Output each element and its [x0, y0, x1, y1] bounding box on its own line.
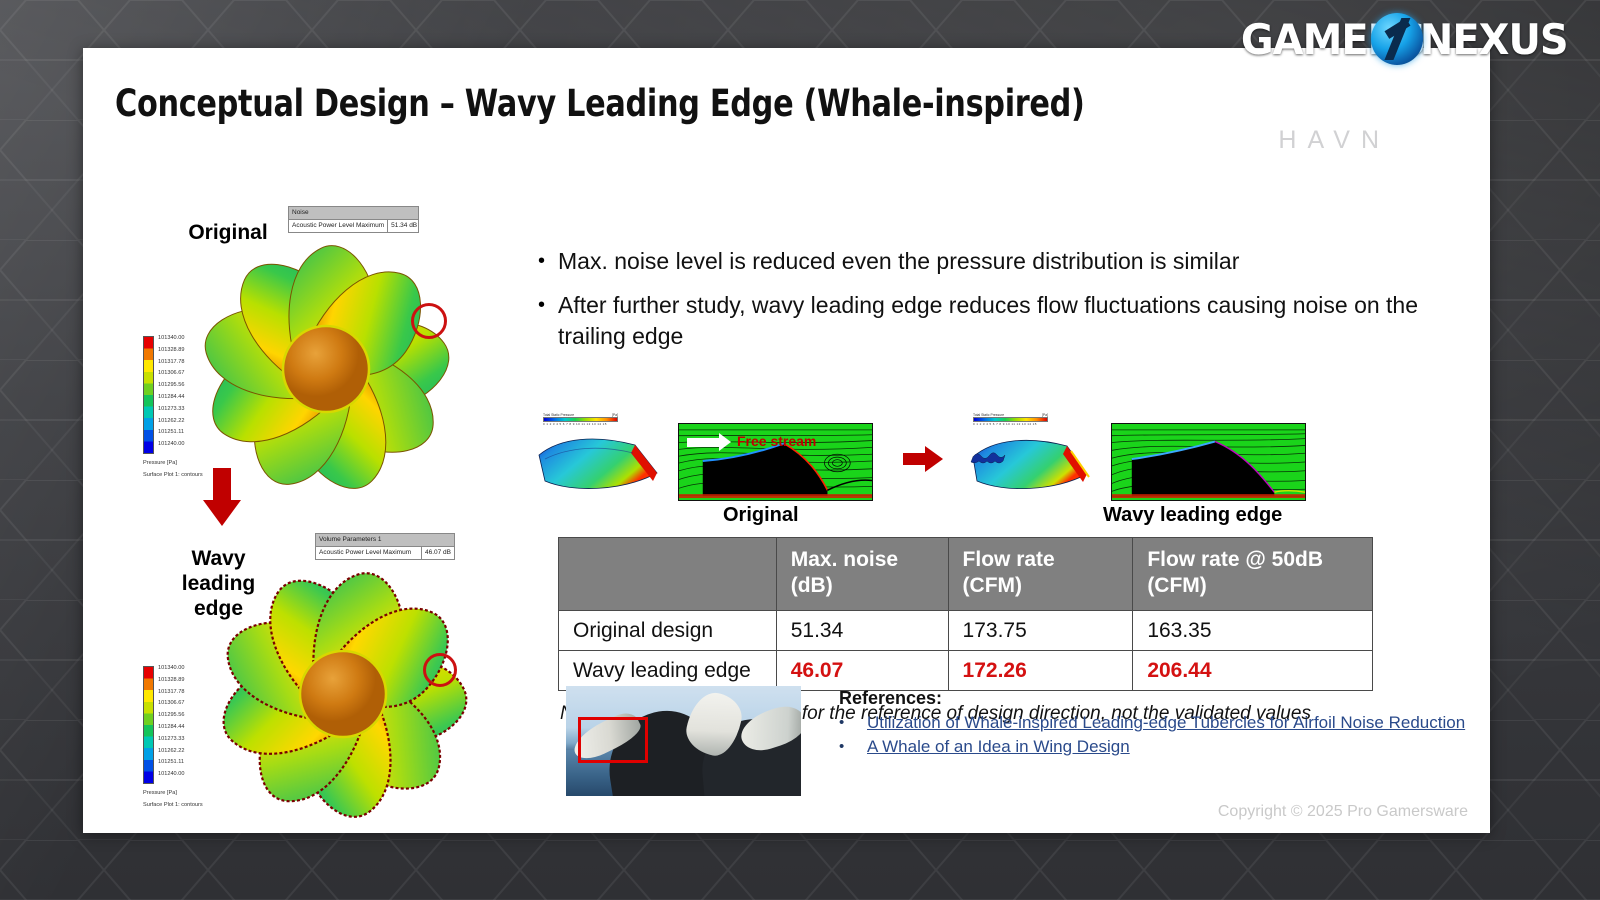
- original-mini-legend: Total Static Pressure [Pa] 0 1 2 3 4 5 6…: [543, 413, 618, 426]
- legend-caption-sub: Surface Plot 1: contours: [143, 472, 203, 478]
- header-line: Max. noise: [791, 547, 938, 573]
- references-title: References:: [839, 688, 1439, 709]
- reference-link-tubercles[interactable]: Utilization of Whale-inspired Leading-ed…: [867, 712, 1465, 734]
- legend-tick: 101273.33: [158, 404, 184, 416]
- cell-max-noise: 46.07: [776, 651, 948, 691]
- reference-item: • Utilization of Whale-inspired Leading-…: [839, 712, 1439, 734]
- reference-item: • A Whale of an Idea in Wing Design: [839, 736, 1439, 758]
- legend-tick: 101328.89: [158, 675, 184, 687]
- free-stream-arrow-icon: [687, 438, 721, 447]
- legend-tick: 101295.56: [158, 710, 184, 722]
- gamers-nexus-logo: GAMERS NEXUS: [1236, 12, 1572, 66]
- table-header-row: Max. noise (dB) Flow rate (CFM) Flow rat…: [559, 538, 1373, 611]
- header-line: Flow rate @ 50dB: [1147, 547, 1362, 573]
- legend-tick: 101328.89: [158, 345, 184, 357]
- mini-legend-unit: [Pa]: [1042, 413, 1048, 417]
- pressure-legend-ticks: 101340.00 101328.89 101317.78 101306.67 …: [158, 663, 184, 781]
- wavy-fan-render: [183, 558, 503, 828]
- legend-tick: 101240.00: [158, 769, 184, 781]
- header-line: (CFM): [963, 573, 1123, 599]
- original-fan-figure: Original Noise Acoustic Power Level Maxi…: [143, 198, 493, 508]
- wavy-airfoil-3d: Total Static Pressure [Pa] 0 1 2 3 4 5 6…: [963, 413, 1093, 498]
- legend-tick: 101295.56: [158, 380, 184, 392]
- mini-legend-unit: [Pa]: [612, 413, 618, 417]
- bullet-dot-icon: •: [538, 290, 558, 352]
- gamers-nexus-emblem-icon: [1371, 13, 1423, 65]
- wavy-streamline-panel: [1111, 423, 1306, 501]
- cfd-left-caption: Original: [723, 504, 799, 527]
- legend-tick: 101306.67: [158, 698, 184, 710]
- logo-text-nexus: NEXUS: [1420, 15, 1568, 64]
- cfd-transition-arrow-icon: [903, 446, 945, 472]
- mini-legend-title: Total Static Pressure: [973, 413, 1004, 417]
- legend-tick: 101251.11: [158, 427, 184, 439]
- arrow-shaft: [213, 468, 231, 502]
- bullet-list: • Max. noise level is reduced even the p…: [538, 246, 1448, 365]
- reference-link-wing-design[interactable]: A Whale of an Idea in Wing Design: [867, 736, 1130, 758]
- table-row: Wavy leading edge 46.07 172.26 206.44: [559, 651, 1373, 691]
- arrow-shaft: [903, 453, 927, 465]
- legend-tick: 101284.44: [158, 392, 184, 404]
- legend-tick: 101273.33: [158, 734, 184, 746]
- header-line: Flow rate: [963, 547, 1123, 573]
- free-stream-label: Free stream: [737, 433, 816, 449]
- header-line: (CFM): [1147, 573, 1362, 599]
- pressure-colorbar-icon: [143, 336, 154, 454]
- comparison-table: Max. noise (dB) Flow rate (CFM) Flow rat…: [558, 537, 1373, 691]
- wavy-airfoil-surface: [963, 429, 1093, 499]
- legend-tick: 101340.00: [158, 333, 184, 345]
- legend-tick: 101262.22: [158, 416, 184, 428]
- table-row: Original design 51.34 173.75 163.35: [559, 611, 1373, 651]
- legend-tick: 101284.44: [158, 722, 184, 734]
- legend-caption: Pressure [Pa]: [143, 790, 177, 796]
- whale-tubercle-highlight-box: [578, 717, 649, 763]
- legend-tick: 101262.22: [158, 746, 184, 758]
- original-airfoil-surface: [533, 429, 663, 499]
- original-fan-render: [171, 230, 481, 508]
- legend-tick: 101306.67: [158, 368, 184, 380]
- references-block: References: • Utilization of Whale-inspi…: [839, 688, 1439, 760]
- table-header-flow-rate-50db: Flow rate @ 50dB (CFM): [1133, 538, 1373, 611]
- tooltip-title: Volume Parameters 1: [316, 534, 454, 547]
- cell-flow-rate: 172.26: [948, 651, 1133, 691]
- wavy-mini-legend: Total Static Pressure [Pa] 0 1 2 3 4 5 6…: [973, 413, 1048, 426]
- bullet-item: • After further study, wavy leading edge…: [538, 290, 1448, 352]
- table-header-blank: [559, 538, 777, 611]
- cell-flow-rate-50db: 163.35: [1133, 611, 1373, 651]
- wavy-streamlines: [1112, 424, 1305, 500]
- arrow-head: [203, 500, 241, 526]
- mini-legend-ticks: 0 1 2 3 4 5 6 7 8 9 10 11 12 13 14 15: [543, 422, 618, 426]
- table-header-flow-rate: Flow rate (CFM): [948, 538, 1133, 611]
- legend-caption: Pressure [Pa]: [143, 460, 177, 466]
- cell-max-noise: 51.34: [776, 611, 948, 651]
- presentation-slide: HAVN Conceptual Design – Wavy Leading Ed…: [83, 48, 1490, 833]
- pressure-legend-ticks: 101340.00 101328.89 101317.78 101306.67 …: [158, 333, 184, 451]
- legend-tick: 101340.00: [158, 663, 184, 675]
- original-annotation-circle: [411, 303, 447, 339]
- cell-flow-rate-50db: 206.44: [1133, 651, 1373, 691]
- bullet-dot-icon: •: [538, 246, 558, 277]
- legend-caption-sub: Surface Plot 1: contours: [143, 802, 203, 808]
- mini-legend-title: Total Static Pressure: [543, 413, 574, 417]
- wavy-noise-tooltip: Volume Parameters 1 Acoustic Power Level…: [315, 533, 455, 560]
- whale-photo: [566, 686, 801, 796]
- row-label: Original design: [559, 611, 777, 651]
- legend-tick: 101240.00: [158, 439, 184, 451]
- reference-bullet-icon: •: [839, 736, 867, 758]
- pressure-colorbar-icon: [143, 666, 154, 784]
- header-line: (dB): [791, 573, 938, 599]
- mini-legend-ticks: 0 1 2 3 4 5 6 7 8 9 10 11 12 13 14 15: [973, 422, 1048, 426]
- bullet-text: Max. noise level is reduced even the pre…: [558, 246, 1239, 277]
- cell-flow-rate: 173.75: [948, 611, 1133, 651]
- row-label: Wavy leading edge: [559, 651, 777, 691]
- original-airfoil-3d: Total Static Pressure [Pa] 0 1 2 3 4 5 6…: [533, 413, 663, 498]
- legend-tick: 101251.11: [158, 757, 184, 769]
- wavy-annotation-circle: [423, 653, 457, 687]
- table-header-max-noise: Max. noise (dB): [776, 538, 948, 611]
- legend-tick: 101317.78: [158, 687, 184, 699]
- slide-title: Conceptual Design – Wavy Leading Edge (W…: [115, 82, 1085, 125]
- havn-watermark: HAVN: [1278, 126, 1390, 155]
- free-stream-arrow-head: [719, 433, 731, 451]
- wavy-fan-figure: Wavy leading edge Volume Parameters 1 Ac…: [143, 528, 493, 828]
- legend-tick: 101317.78: [158, 357, 184, 369]
- arrow-head: [925, 446, 943, 472]
- reference-bullet-icon: •: [839, 712, 867, 734]
- copyright-text: Copyright © 2025 Pro Gamersware: [1218, 803, 1468, 821]
- original-streamline-panel: Free stream: [678, 423, 873, 501]
- bullet-item: • Max. noise level is reduced even the p…: [538, 246, 1448, 277]
- bullet-text: After further study, wavy leading edge r…: [558, 290, 1448, 352]
- cfd-right-caption: Wavy leading edge: [1103, 504, 1282, 527]
- tooltip-title: Noise: [289, 207, 418, 220]
